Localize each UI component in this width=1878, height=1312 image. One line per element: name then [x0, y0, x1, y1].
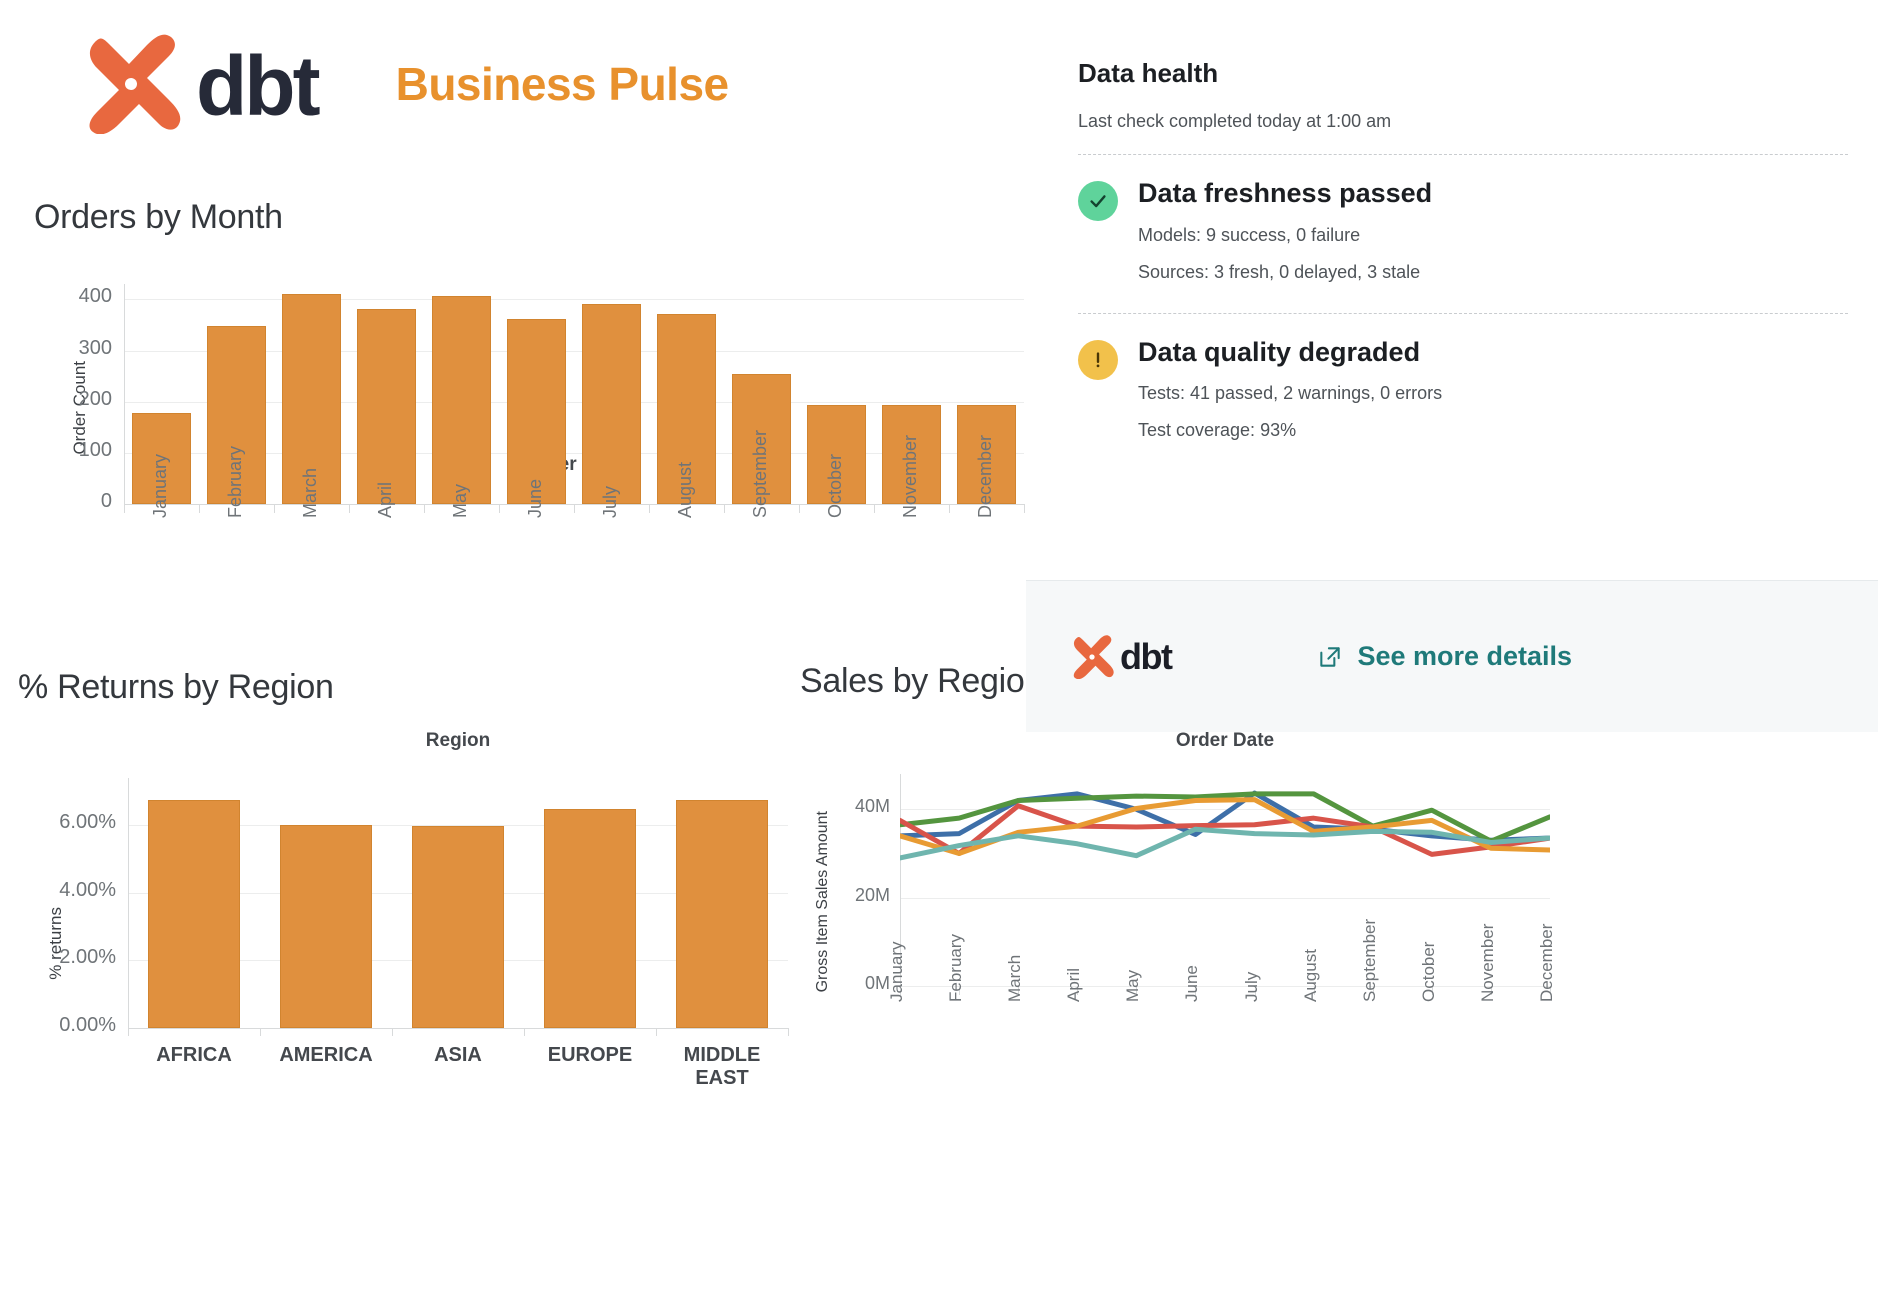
returns-x-axis-title: Region	[128, 730, 788, 752]
bar[interactable]	[412, 826, 504, 1028]
x-axis-tick	[524, 1028, 525, 1036]
x-axis-tick	[949, 504, 950, 513]
returns-y-axis-title: % returns	[46, 848, 66, 1038]
returns-plot-area: 0.00%2.00%4.00%6.00%AFRICAAMERICAASIAEUR…	[128, 778, 788, 1028]
x-axis-tick-label: July	[600, 486, 621, 518]
x-axis-tick	[649, 504, 650, 513]
bar[interactable]	[148, 800, 240, 1028]
y-axis-line	[128, 778, 129, 1028]
x-axis-tick	[499, 504, 500, 513]
check-circle-icon	[1078, 181, 1118, 221]
orders-section-title: Orders by Month	[34, 198, 1024, 237]
x-axis-tick-label: January	[150, 454, 171, 518]
x-axis-tick-label: April	[1064, 968, 1084, 1002]
data-health-panel: Data health Last check completed today a…	[1078, 58, 1848, 441]
x-axis-tick-label: November	[1478, 924, 1498, 1002]
x-axis-tick-label: September	[750, 430, 771, 518]
health-item-line: Models: 9 success, 0 failure	[1138, 225, 1432, 246]
x-axis-tick-label: August	[1301, 949, 1321, 1002]
bar[interactable]	[432, 296, 491, 504]
dbt-logo-icon	[1070, 635, 1114, 679]
y-axis-tick-label: 4.00%	[59, 879, 116, 902]
external-link-icon	[1317, 644, 1343, 670]
x-axis-tick-label: October	[825, 454, 846, 518]
y-axis-tick-label: 300	[79, 337, 112, 360]
health-item-heading: Data quality degraded	[1138, 338, 1442, 368]
health-item-freshness[interactable]: Data freshness passed Models: 9 success,…	[1078, 179, 1848, 283]
y-axis-tick-label: 20M	[855, 885, 890, 906]
x-axis-tick-label: February	[225, 446, 246, 518]
dashboard-header: dbt Business Pulse	[80, 34, 729, 134]
page-title: Business Pulse	[396, 57, 729, 111]
y-axis-tick-label: 100	[79, 439, 112, 462]
x-axis-tick	[1024, 504, 1025, 513]
y-axis-tick-label: 0.00%	[59, 1014, 116, 1037]
health-item-line: Tests: 41 passed, 2 warnings, 0 errors	[1138, 383, 1442, 404]
x-axis-tick	[199, 504, 200, 513]
returns-by-region-chart: % Returns by Region Region % returns 0.0…	[18, 668, 818, 707]
line-series-layer	[900, 774, 1550, 986]
dbt-brand: dbt	[80, 34, 318, 134]
bar[interactable]	[582, 304, 641, 504]
x-axis-tick	[260, 1028, 261, 1036]
gridline	[124, 299, 1024, 300]
x-axis-tick	[656, 1028, 657, 1036]
dbt-brand-small: dbt	[1070, 635, 1171, 679]
y-axis-tick-label: 6.00%	[59, 811, 116, 834]
bar[interactable]	[507, 319, 566, 504]
x-axis-tick-label: December	[1537, 924, 1557, 1002]
x-axis-tick	[274, 504, 275, 513]
sales-plot-area: 0M20M40MJanuaryFebruaryMarchAprilMayJune…	[900, 774, 1550, 986]
see-more-details-label: See more details	[1357, 641, 1572, 672]
x-axis-tick	[124, 504, 125, 513]
x-axis-tick	[349, 504, 350, 513]
divider	[1078, 154, 1848, 155]
x-axis-tick	[788, 1028, 789, 1036]
x-axis-tick	[128, 1028, 129, 1036]
x-axis-tick-label: November	[900, 435, 921, 518]
x-axis-tick-label: July	[1242, 972, 1262, 1002]
bar[interactable]	[357, 309, 416, 504]
see-more-details-card[interactable]: dbt See more details	[1026, 580, 1878, 732]
x-axis-tick	[424, 504, 425, 513]
health-item-quality[interactable]: Data quality degraded Tests: 41 passed, …	[1078, 338, 1848, 442]
x-axis-tick-label: April	[375, 482, 396, 518]
x-axis-tick-label: ASIA	[392, 1044, 524, 1067]
see-more-details-link[interactable]: See more details	[1317, 641, 1572, 672]
y-axis-tick-label: 40M	[855, 796, 890, 817]
x-axis-tick-label: February	[946, 934, 966, 1002]
x-axis-tick-label: May	[1123, 970, 1143, 1002]
x-axis-tick-label: AFRICA	[128, 1044, 260, 1067]
x-axis-tick	[874, 504, 875, 513]
orders-plot-area: 0100200300400JanuaryFebruaryMarchAprilMa…	[124, 284, 1024, 504]
gridline	[900, 986, 1550, 987]
warning-circle-icon	[1078, 340, 1118, 380]
health-item-line: Sources: 3 fresh, 0 delayed, 3 stale	[1138, 262, 1432, 283]
returns-section-title: % Returns by Region	[18, 668, 818, 707]
x-axis-tick-label: June	[1182, 965, 1202, 1002]
sales-x-axis-title: Order Date	[900, 730, 1550, 752]
health-item-heading: Data freshness passed	[1138, 179, 1432, 209]
x-axis-tick-label: AMERICA	[260, 1044, 392, 1067]
data-health-title: Data health	[1078, 58, 1848, 89]
x-axis-tick-label: August	[675, 462, 696, 518]
sales-y-axis-title: Gross Item Sales Amount	[814, 802, 832, 1002]
x-axis-tick-label: September	[1360, 919, 1380, 1002]
dbt-wordmark: dbt	[196, 44, 318, 128]
x-axis-tick-label: May	[450, 484, 471, 518]
x-axis-tick	[724, 504, 725, 513]
orders-by-month-chart: Orders by Month Order Date Order Count 0…	[34, 198, 1024, 237]
x-axis-tick-label: December	[975, 435, 996, 518]
x-axis-tick	[574, 504, 575, 513]
y-axis-tick-label: 2.00%	[59, 946, 116, 969]
x-axis-tick-label: October	[1419, 942, 1439, 1002]
x-axis-tick-label: March	[300, 468, 321, 518]
y-axis-tick-label: 400	[79, 285, 112, 308]
x-axis-line	[128, 1028, 788, 1029]
dashboard-page: dbt Business Pulse Orders by Month Order…	[0, 0, 1878, 1312]
y-axis-tick-label: 200	[79, 388, 112, 411]
x-axis-tick-label: March	[1005, 955, 1025, 1002]
bar[interactable]	[280, 825, 372, 1028]
x-axis-tick-label: June	[525, 479, 546, 518]
x-axis-tick	[799, 504, 800, 513]
y-axis-tick-label: 0	[101, 490, 112, 513]
dbt-logo-icon	[80, 34, 182, 134]
x-axis-tick	[392, 1028, 393, 1036]
y-axis-line	[124, 284, 125, 504]
dbt-wordmark-small: dbt	[1120, 636, 1171, 678]
divider	[1078, 313, 1848, 314]
bar[interactable]	[676, 800, 768, 1028]
bar[interactable]	[544, 809, 636, 1028]
health-item-line: Test coverage: 93%	[1138, 420, 1442, 441]
x-axis-tick-label: EUROPE	[524, 1044, 656, 1067]
x-axis-tick-label: MIDDLE EAST	[656, 1044, 788, 1090]
data-health-subtitle: Last check completed today at 1:00 am	[1078, 111, 1848, 132]
x-axis-tick-label: January	[887, 942, 907, 1002]
